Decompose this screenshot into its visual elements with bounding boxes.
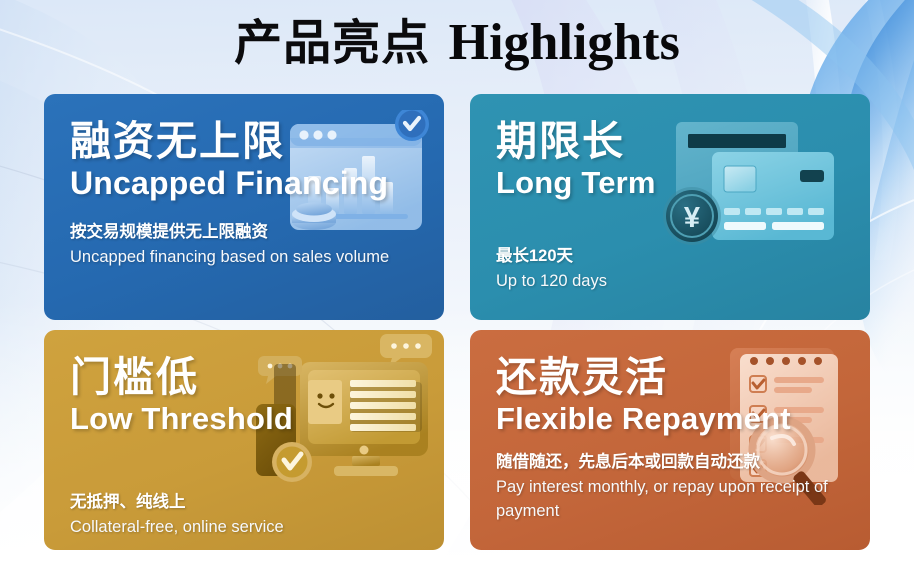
page-title: 产品亮点 Highlights [0,14,914,73]
card-text-block: 期限长 Long Term 最长120天 Up to 120 days [496,118,848,293]
card-subtext-en: Collateral-free, online service [70,515,422,539]
highlight-card-grid: 融资无上限 Uncapped Financing 按交易规模提供无上限融资 Un… [44,94,870,550]
card-subtext-en: Pay interest monthly, or repay upon rece… [496,475,848,523]
card-subtext-en: Uncapped financing based on sales volume [70,245,422,269]
card-subtext-block: 按交易规模提供无上限融资 Uncapped financing based on… [70,220,422,269]
card-text-block: 还款灵活 Flexible Repayment 随借随还，先息后本或回款自动还款… [496,354,848,523]
card-heading-cn: 门槛低 [70,354,422,400]
card-subtext-block: 随借随还，先息后本或回款自动还款 Pay interest monthly, o… [496,450,848,523]
highlight-card-flexible-repayment[interactable]: 还款灵活 Flexible Repayment 随借随还，先息后本或回款自动还款… [470,330,870,550]
card-subtext-en: Up to 120 days [496,269,848,293]
card-heading-cn: 期限长 [496,118,848,164]
card-subtext-cn: 无抵押、纯线上 [70,490,422,515]
card-subtext-cn: 按交易规模提供无上限融资 [70,220,422,245]
card-heading-cn: 还款灵活 [496,354,848,400]
card-subtext-cn: 最长120天 [496,244,848,269]
card-heading-en: Long Term [496,164,848,202]
card-subtext-cn: 随借随还，先息后本或回款自动还款 [496,450,848,475]
highlight-card-long-term[interactable]: ¥ 期限长 Long Term 最长120天 Up to 120 days [470,94,870,320]
card-subtext-block: 最长120天 Up to 120 days [496,244,848,293]
highlight-card-low-threshold[interactable]: 门槛低 Low Threshold 无抵押、纯线上 Collateral-fre… [44,330,444,550]
card-heading-en: Low Threshold [70,400,422,438]
page-title-en: Highlights [449,14,680,71]
card-text-block: 门槛低 Low Threshold 无抵押、纯线上 Collateral-fre… [70,354,422,539]
card-heading-en: Uncapped Financing [70,164,422,202]
card-subtext-block: 无抵押、纯线上 Collateral-free, online service [70,490,422,539]
card-heading-en: Flexible Repayment [496,400,848,438]
card-text-block: 融资无上限 Uncapped Financing 按交易规模提供无上限融资 Un… [70,118,422,269]
page-title-cn: 产品亮点 [234,17,430,70]
card-heading-cn: 融资无上限 [70,118,422,164]
highlight-card-uncapped-financing[interactable]: 融资无上限 Uncapped Financing 按交易规模提供无上限融资 Un… [44,94,444,320]
